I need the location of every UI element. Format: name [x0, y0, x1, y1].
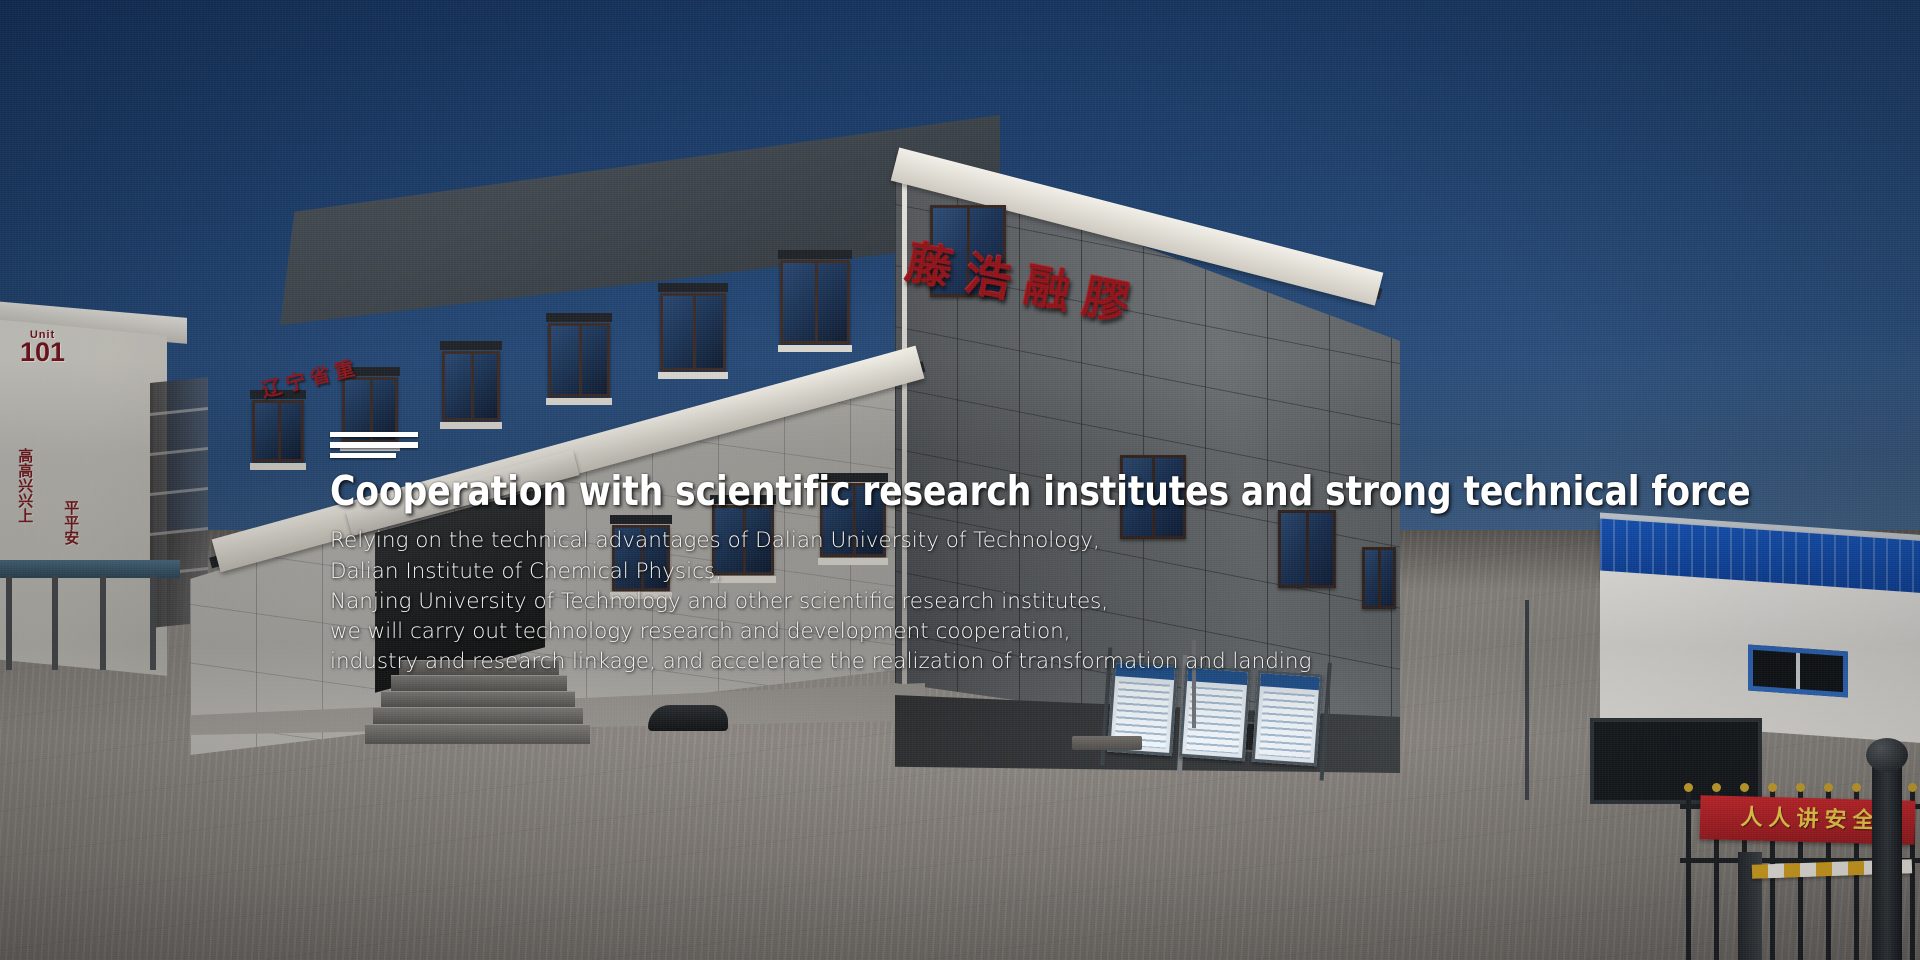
facade-sign-char: 膠 [1079, 273, 1133, 327]
banner-body: Relying on the technical advantages of D… [330, 526, 1650, 676]
decorative-rules-icon [330, 432, 418, 458]
facade-sign-char: 融 [1020, 262, 1074, 316]
banner-caption: Cooperation with scientific research ins… [330, 432, 1650, 677]
banner-body-line: Dalian Institute of Chemical Physics, [330, 557, 1650, 587]
parked-vehicle [648, 705, 728, 731]
facade-sign-char: 浩 [962, 250, 1016, 304]
entrance-sign-char: 省 [306, 358, 332, 391]
banner-body-line: we will carry out technology research an… [330, 617, 1650, 647]
banner-headline: Cooperation with scientific research ins… [330, 470, 1571, 513]
window [548, 323, 610, 397]
banner-body-line: industry and research linkage, and accel… [330, 647, 1650, 677]
entrance-sign-char: 重 [331, 352, 357, 385]
banner-char: 讲 [1796, 809, 1819, 832]
banner-char: 人 [1740, 807, 1763, 830]
facade-sign-char: 藤 [903, 239, 957, 293]
banner-body-line: Nanjing University of Technology and oth… [330, 587, 1650, 617]
banner-char: 人 [1768, 808, 1791, 831]
window [660, 293, 726, 371]
window [780, 260, 850, 344]
window [252, 400, 304, 462]
banner-char: 安 [1824, 809, 1847, 832]
banner-body-line: Relying on the technical advantages of D… [330, 526, 1650, 556]
ground-planter [1072, 736, 1142, 750]
unit-101-sign: Unit 101 [20, 330, 65, 365]
info-board [1179, 665, 1251, 761]
window [1748, 645, 1848, 698]
unit-label-number: 101 [20, 340, 65, 365]
left-wall-slogan-column-2: 平平安 [60, 500, 80, 545]
gate-post [1872, 760, 1902, 960]
building-roof-plane [280, 115, 1000, 325]
hero-banner: Unit 101 高高兴兴上 平平安 [0, 0, 1920, 960]
info-board [1251, 670, 1323, 766]
left-wall-slogan-column-1: 高高兴兴上 [14, 448, 34, 523]
window [442, 351, 500, 421]
entrance-sign-char: 宁 [282, 364, 308, 397]
